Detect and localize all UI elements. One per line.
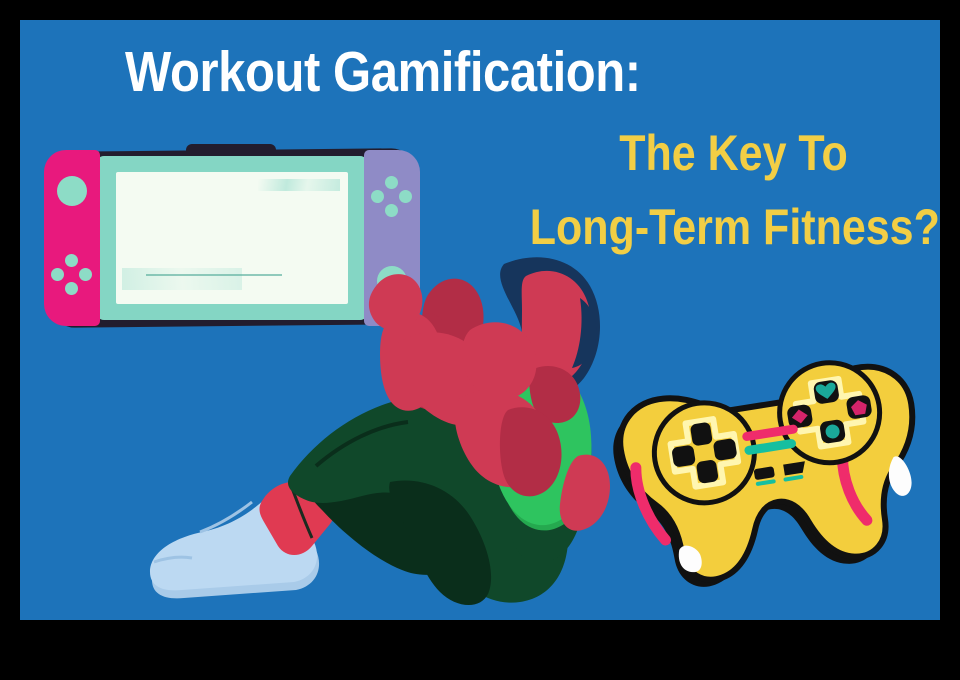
subtitle-line-2: Long-Term Fitness? <box>530 202 940 252</box>
dpad-up-button <box>690 422 713 447</box>
dpad-right-button[interactable] <box>79 268 92 281</box>
face-button-x[interactable] <box>385 176 398 189</box>
dpad-up-button[interactable] <box>65 254 78 267</box>
face-button-y[interactable] <box>371 190 384 203</box>
person-doing-situps <box>140 250 640 620</box>
poster-canvas: Workout Gamification: The Key To Long-Te… <box>20 20 940 620</box>
face-button-b[interactable] <box>385 204 398 217</box>
dpad-down-button <box>696 459 719 484</box>
subtitle-line-1: The Key To <box>619 128 848 178</box>
dpad-down-button[interactable] <box>65 282 78 295</box>
page-title: Workout Gamification: <box>125 44 641 101</box>
dpad-right-button <box>713 438 738 461</box>
dpad-left-button <box>671 445 696 468</box>
right-face-buttons-icon[interactable] <box>371 176 413 218</box>
poster-frame: Workout Gamification: The Key To Long-Te… <box>0 0 960 680</box>
dpad-left-button[interactable] <box>51 268 64 281</box>
face-button-a[interactable] <box>399 190 412 203</box>
left-analog-stick-icon[interactable] <box>57 176 87 206</box>
game-controller <box>612 360 940 620</box>
screen-smudge-top <box>258 179 340 191</box>
left-dpad-icon[interactable] <box>51 254 93 296</box>
left-joycon[interactable] <box>44 150 100 326</box>
